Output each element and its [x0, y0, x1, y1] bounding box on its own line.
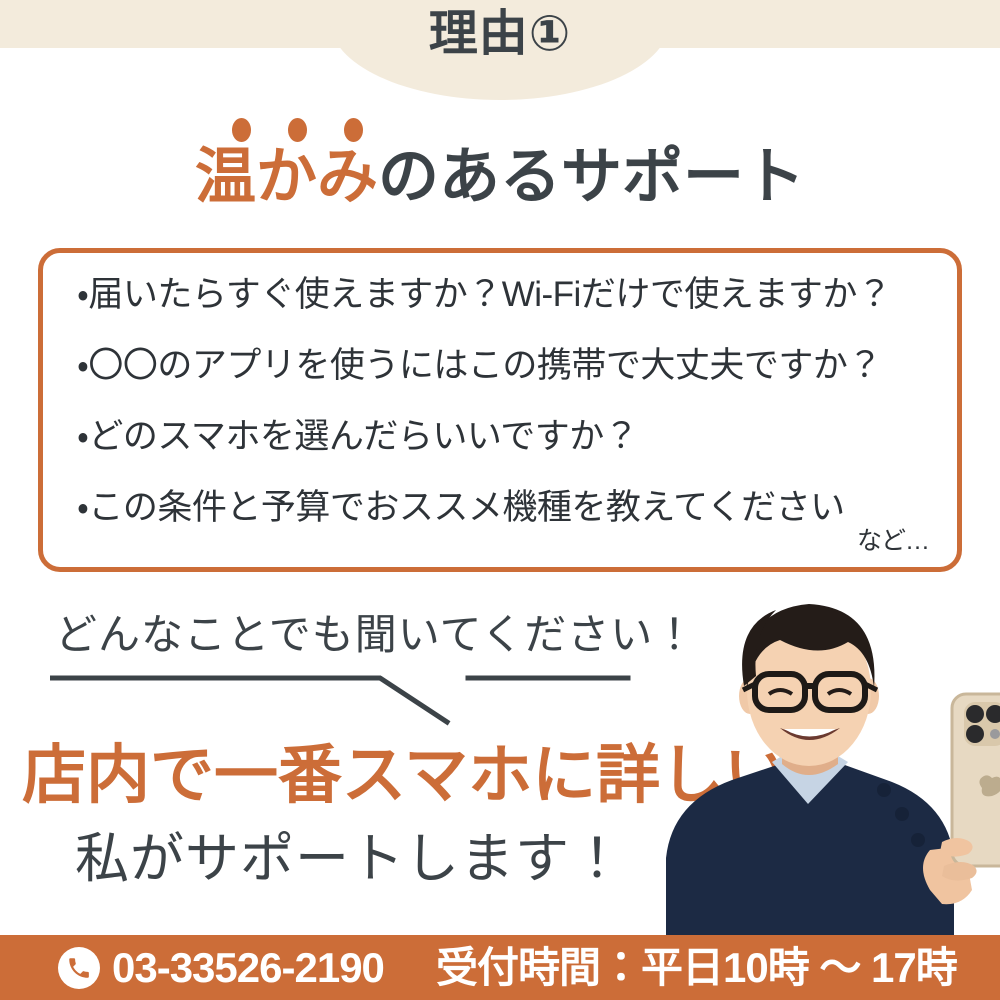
contact-footer-bar: 03-33526-2190 受付時間：平日10時 〜 17時: [0, 935, 1000, 1000]
question-list: ・届いたらすぐ使えますか？Wi-Fiだけで使えますか？ ・〇〇のアプリを使うには…: [77, 277, 937, 525]
list-item: ・この条件と予算でおススメ機種を教えてください: [77, 490, 937, 525]
phone-handset-glyph: [66, 955, 92, 981]
list-item: ・届いたらすぐ使えますか？Wi-Fiだけで使えますか？: [77, 277, 937, 312]
camera-lens: [966, 705, 984, 723]
question-box: ・届いたらすぐ使えますか？Wi-Fiだけで使えますか？ ・〇〇のアプリを使うには…: [38, 248, 962, 572]
ask-anything-text: どんなことでも聞いてください！: [55, 601, 696, 662]
finger: [940, 838, 973, 857]
list-item: ・〇〇のアプリを使うにはこの携帯で大丈夫ですか？: [77, 348, 937, 383]
camera-flash: [990, 729, 1000, 739]
staff-photo-illustration: [612, 590, 1000, 938]
promotional-poster: 理由① 温かみのあるサポート ・届いたらすぐ使えますか？Wi-Fiだけで使えます…: [0, 0, 1000, 1000]
main-heading-highlight: 温かみ: [195, 142, 378, 210]
emphasis-dot-3: [344, 118, 363, 142]
sweater-button: [911, 833, 925, 847]
finger: [942, 862, 977, 881]
main-heading-rest: のあるサポート: [378, 142, 805, 210]
reason-badge-label: 理由①: [0, 8, 1000, 62]
sweater-button: [895, 807, 909, 821]
business-hours: 受付時間：平日10時 〜 17時: [436, 945, 957, 991]
camera-lens: [966, 725, 984, 743]
emphasis-dot-1: [232, 118, 251, 142]
etc-label: など…: [857, 521, 929, 557]
speech-bubble-tail: [50, 660, 650, 726]
phone-handset-icon[interactable]: [58, 947, 100, 989]
staff-photo: [612, 590, 1000, 938]
main-heading: 温かみのあるサポート: [0, 143, 1000, 210]
phone-number[interactable]: 03-33526-2190: [112, 945, 384, 991]
emphasis-dot-2: [288, 118, 307, 142]
emphasis-dots: [226, 118, 376, 144]
apple-logo: [979, 775, 1000, 796]
subline-text: 私がサポートします！: [0, 831, 700, 888]
list-item: ・どのスマホを選んだらいいですか？: [77, 419, 937, 454]
sweater-button: [877, 783, 891, 797]
